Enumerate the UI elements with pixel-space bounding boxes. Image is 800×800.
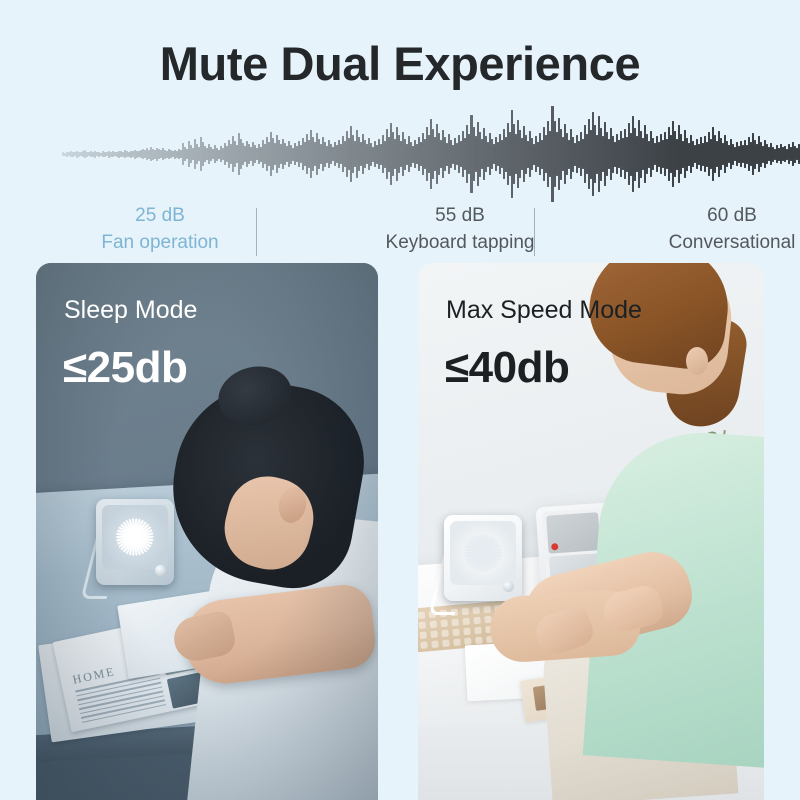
legend-description: Fan operation	[50, 229, 270, 256]
mat-texture-dot	[474, 627, 482, 635]
mat-texture-dot	[442, 639, 450, 647]
mat-texture-dot	[420, 641, 428, 649]
audio-waveform	[62, 112, 738, 196]
card-noise-value: ≤40db	[445, 343, 569, 393]
card-mode-label: Sleep Mode	[64, 296, 197, 325]
legend-item-fan-operation: 25 dB Fan operation	[50, 202, 270, 256]
decibel-legend: 25 dB Fan operation 55 dB Keyboard tappi…	[60, 202, 750, 258]
screen-badge-icon	[551, 543, 558, 550]
mode-card-sleep: HOME Sleep Mode ≤25db	[36, 263, 378, 800]
page-title: Mute Dual Experience	[0, 36, 800, 91]
card-mode-label: Max Speed Mode	[446, 296, 642, 325]
card-noise-value: ≤25db	[63, 343, 187, 393]
mat-texture-dot	[464, 638, 472, 646]
mat-texture-dot	[419, 631, 427, 639]
legend-value: 60 dB	[622, 202, 800, 229]
legend-divider-1	[256, 208, 257, 256]
legend-divider-2	[534, 208, 535, 256]
legend-description: Keyboard tapping	[350, 229, 570, 256]
mat-texture-dot	[431, 640, 439, 648]
fan-body	[444, 515, 522, 601]
waveform-bar	[676, 139, 678, 170]
legend-value: 55 dB	[350, 202, 570, 229]
mat-texture-dot	[452, 629, 460, 637]
mat-texture-dot	[441, 630, 449, 638]
legend-value: 25 dB	[50, 202, 270, 229]
person-ear	[686, 347, 708, 375]
legend-item-conversational: 60 dB Conversational	[622, 202, 800, 256]
mat-texture-dot	[419, 621, 427, 629]
mat-texture-dot	[453, 639, 461, 647]
mat-texture-dot	[430, 630, 438, 638]
mode-card-max-speed: Max Speed Mode ≤40db	[418, 263, 764, 800]
fan-power-knob	[503, 581, 514, 592]
mat-texture-dot	[475, 637, 483, 645]
mat-texture-dot	[463, 628, 471, 636]
legend-item-keyboard-tapping: 55 dB Keyboard tapping	[350, 202, 570, 256]
screen-tile	[546, 512, 601, 554]
mat-texture-dot	[418, 612, 425, 620]
fan-blade-grille	[450, 521, 516, 585]
legend-description: Conversational	[622, 229, 800, 256]
